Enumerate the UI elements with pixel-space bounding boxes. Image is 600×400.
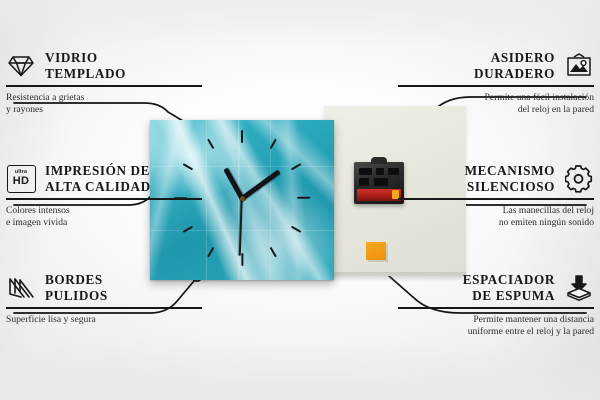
feature-title: MECANISMO SILENCIOSO [465, 163, 555, 194]
clock-face-gridline [150, 230, 334, 231]
feature-header: ultra HD IMPRESIÓN DE ALTA CALIDAD [6, 163, 202, 194]
feature-title: VIDRIO TEMPLADO [45, 50, 126, 81]
mechanism-detail [359, 168, 372, 175]
mechanism-hanger-knob [371, 157, 387, 164]
feature-divider [6, 198, 202, 200]
feature-tempered-glass: VIDRIO TEMPLADO Resistencia a grietas y … [6, 50, 202, 117]
feature-title: BORDES PULIDOS [45, 272, 108, 303]
clock-hand-hub [240, 196, 245, 201]
feature-durable-hanger: ASIDERO DURADERO Permite una fácil insta… [398, 50, 594, 117]
feature-header: ESPACIADOR DE ESPUMA [398, 272, 594, 303]
feature-high-quality-print: ultra HD IMPRESIÓN DE ALTA CALIDAD Color… [6, 163, 202, 230]
mechanism-detail [374, 178, 388, 186]
feature-description: Resistencia a grietas y rayones [6, 92, 202, 117]
feature-description: Permite mantener una distancia uniforme … [398, 314, 594, 339]
ultra-hd-badge-icon: ultra HD [6, 164, 36, 194]
mechanism-detail [376, 168, 384, 175]
background-bottom-fade [0, 342, 600, 400]
mechanism-battery [357, 189, 401, 201]
feature-description: Superficie lisa y segura [6, 314, 202, 327]
foam-spacer-part [366, 242, 386, 260]
feature-description: Colores intensos e imagen vívida [6, 205, 202, 230]
feature-divider [398, 307, 594, 309]
feature-divider [398, 85, 594, 87]
feature-polished-edges: BORDES PULIDOS Superficie lisa y segura [6, 272, 202, 326]
press-down-pad-icon [564, 273, 594, 303]
background-top-fade [0, 0, 600, 46]
feature-foam-spacer: ESPACIADOR DE ESPUMA Permite mantener un… [398, 272, 594, 339]
mechanism-detail [359, 178, 369, 186]
feature-description: Permite una fácil instalación del reloj … [398, 92, 594, 117]
feature-header: BORDES PULIDOS [6, 272, 202, 303]
feature-header: VIDRIO TEMPLADO [6, 50, 202, 81]
hanging-frame-icon [564, 51, 594, 81]
clock-mechanism [354, 162, 404, 204]
feature-title: ESPACIADOR DE ESPUMA [463, 272, 555, 303]
infographic-canvas: VIDRIO TEMPLADO Resistencia a grietas y … [0, 0, 600, 400]
diamond-icon [6, 51, 36, 81]
feature-header: MECANISMO SILENCIOSO [398, 163, 594, 194]
gear-icon [564, 164, 594, 194]
hd-badge: ultra HD [7, 165, 36, 193]
feature-title: ASIDERO DURADERO [474, 50, 555, 81]
feature-divider [6, 85, 202, 87]
feature-divider [398, 198, 594, 200]
polished-edges-icon [6, 273, 36, 303]
feature-header: ASIDERO DURADERO [398, 50, 594, 81]
feature-silent-mechanism: MECANISMO SILENCIOSO Las manecillas del … [398, 163, 594, 230]
feature-description: Las manecillas del reloj no emiten ningú… [398, 205, 594, 230]
feature-title: IMPRESIÓN DE ALTA CALIDAD [45, 163, 151, 194]
feature-divider [6, 307, 202, 309]
clock-tick-6 [241, 253, 243, 266]
